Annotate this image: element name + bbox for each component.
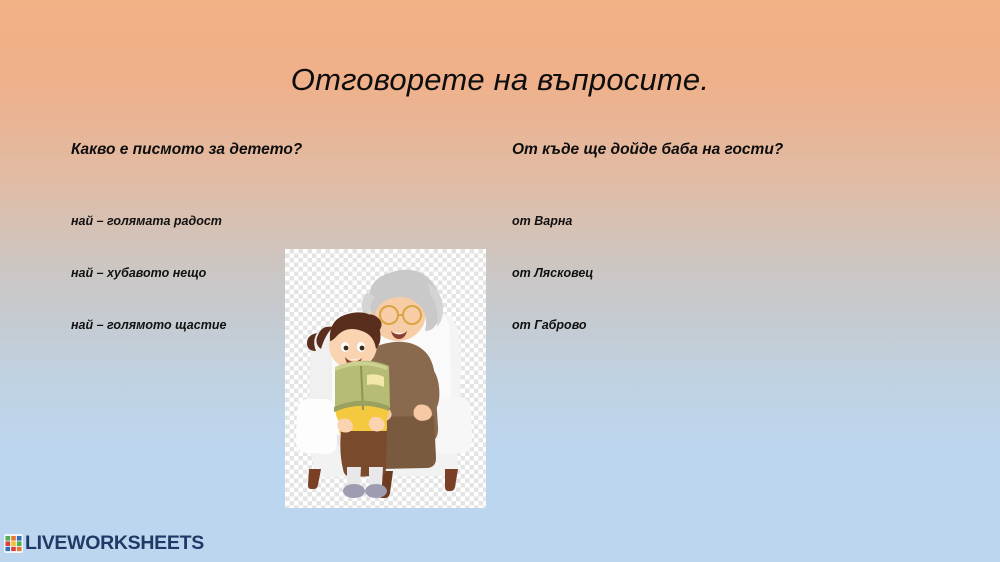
answer-list-right: от Варна от Лясковец от Габрово (512, 213, 932, 333)
liveworksheets-watermark-label: LIVEWORKSHEETS (25, 534, 204, 553)
grandmother-reading-with-child-image (285, 249, 486, 508)
liveworksheets-watermark: LIVEWORKSHEETS (4, 534, 204, 553)
liveworksheets-grid-logo-icon (4, 534, 23, 553)
question-column-right: От къде ще дойде баба на гости? от Варна… (512, 140, 932, 333)
question-text-right: От къде ще дойде баба на гости? (512, 140, 932, 160)
slide-canvas: Отговорете на въпросите. Какво е писмото… (0, 0, 1000, 562)
answer-option[interactable]: от Лясковец (512, 265, 932, 281)
page-title: Отговорете на въпросите. (0, 62, 1000, 98)
answer-option[interactable]: от Габрово (512, 317, 932, 333)
answer-option[interactable]: от Варна (512, 213, 932, 229)
answer-option[interactable]: най – голямата радост (71, 213, 491, 229)
question-text-left: Какво е писмото за детето? (71, 140, 491, 160)
illustration-svg (285, 249, 486, 508)
